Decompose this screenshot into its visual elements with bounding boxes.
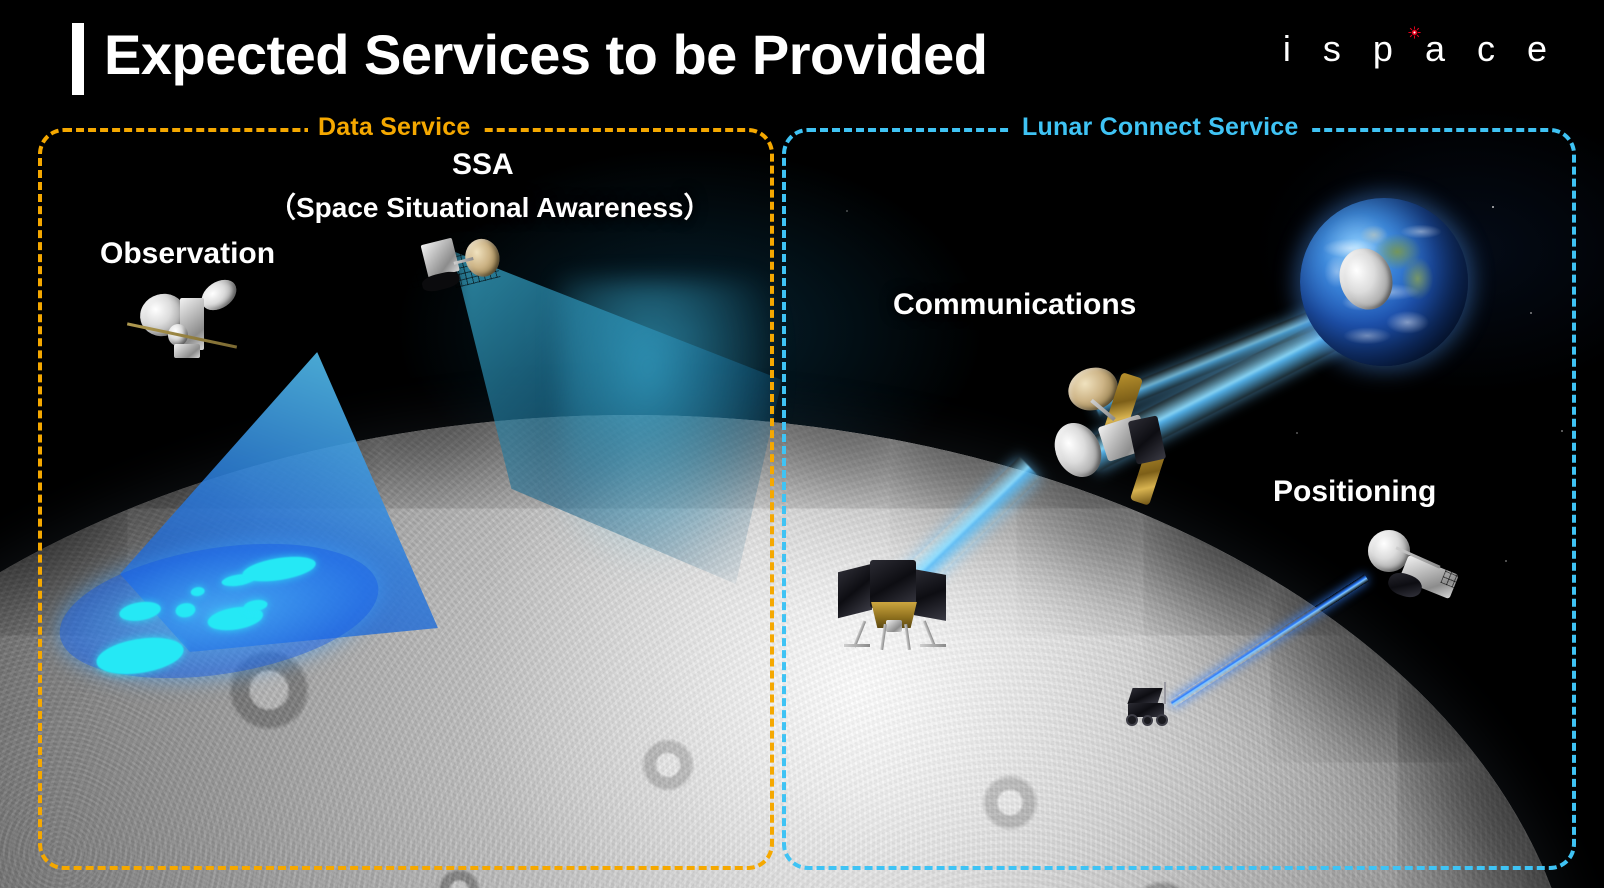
caption-positioning: Positioning xyxy=(1273,475,1436,509)
group-box-lunar-connect-service xyxy=(782,128,1576,870)
slide-canvas: Data Service Lunar Connect Service Expec… xyxy=(0,0,1604,888)
group-label-data-service: Data Service xyxy=(308,113,481,142)
caption-ssa-abbrev: SSA xyxy=(452,148,514,182)
group-label-lunar-connect-service: Lunar Connect Service xyxy=(1012,113,1309,142)
caption-communications: Communications xyxy=(893,288,1136,322)
page-title: Expected Services to be Provided xyxy=(104,22,987,87)
caption-ssa-full: （Space Situational Awareness） xyxy=(268,186,712,226)
red-starburst-dot-icon xyxy=(1408,26,1421,39)
title-accent-bar xyxy=(72,23,84,95)
caption-observation: Observation xyxy=(100,237,275,271)
